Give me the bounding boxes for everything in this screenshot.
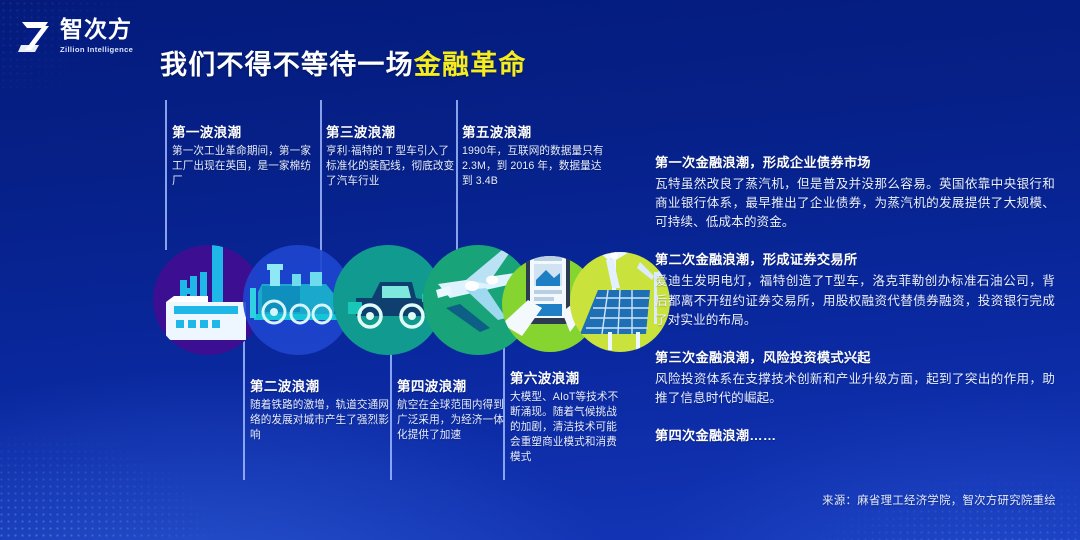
wave-5-desc: 1990年，互联网的数据量只有2.3M，到 2016 年，数据量达到 3.4B [462, 144, 604, 189]
page-title: 我们不得不等待一场金融革命 [160, 43, 527, 82]
wave-4-title: 第四波浪潮 [397, 375, 505, 395]
wave-4-desc: 航空在全球范围内得到广泛采用，为经济一体化提供了加速 [397, 398, 505, 443]
source-credit: 来源：麻省理工经济学院，智次方研究院重绘 [822, 492, 1056, 508]
wave-3-desc: 亨利·福特的 T 型车引入了标准化的装配线，彻底改变了汽车行业 [326, 144, 456, 189]
finance-block-3: 第三次金融浪潮，风险投资模式兴起 风险投资体系在支撑技术创新和产业升级方面，起到… [655, 347, 1055, 408]
wave-1-desc: 第一次工业革命期间，第一家工厂出现在英国，是一家棉纺厂 [172, 144, 320, 189]
finance-2-title: 第二次金融浪潮，形成证券交易所 [655, 249, 1055, 268]
page-title-accent: 金融革命 [414, 50, 527, 80]
wave-block-3: 第三波浪潮 亨利·福特的 T 型车引入了标准化的装配线，彻底改变了汽车行业 [326, 121, 456, 189]
wave-block-6: 第六波浪潮 大模型、AIoT等技术不断涌现。随着气候挑战的加剧，清洁技术可能会重… [510, 367, 624, 465]
wave-block-1: 第一波浪潮 第一次工业革命期间，第一家工厂出现在英国，是一家棉纺厂 [172, 121, 320, 189]
wave-block-5: 第五波浪潮 1990年，互联网的数据量只有2.3M，到 2016 年，数据量达到… [462, 121, 604, 189]
wave-6-desc: 大模型、AIoT等技术不断涌现。随着气候挑战的加剧，清洁技术可能会重塑商业模式和… [510, 390, 624, 465]
wave-block-4: 第四波浪潮 航空在全球范围内得到广泛采用，为经济一体化提供了加速 [397, 375, 505, 443]
zillion-z-mark-icon [18, 17, 52, 57]
wave-6-title: 第六波浪潮 [510, 367, 624, 387]
finance-4-title: 第四次金融浪潮…… [655, 425, 1055, 444]
finance-1-title: 第一次金融浪潮，形成企业债券市场 [655, 152, 1055, 171]
wave-1-title: 第一波浪潮 [172, 121, 320, 141]
finance-block-4: 第四次金融浪潮…… [655, 425, 1055, 444]
finance-1-desc: 瓦特虽然改良了蒸汽机，但是普及并没那么容易。英国依靠中央银行和商业银行体系，最早… [655, 175, 1055, 232]
brand-logo[interactable]: 智次方 Zillion Intelligence [18, 17, 133, 57]
wave-2-desc: 随着铁路的激增，轨道交通网络的发展对城市产生了强烈影响 [250, 398, 396, 443]
wave-block-2: 第二波浪潮 随着铁路的激增，轨道交通网络的发展对城市产生了强烈影响 [250, 375, 396, 443]
industrial-waves-illustration [150, 228, 670, 368]
brand-name-en: Zillion Intelligence [60, 46, 133, 54]
finance-block-1: 第一次金融浪潮，形成企业债券市场 瓦特虽然改良了蒸汽机，但是普及并没那么容易。英… [655, 152, 1055, 232]
brand-name-cn: 智次方 [60, 18, 133, 41]
slide-canvas: 智次方 Zillion Intelligence 我们不得不等待一场金融革命 [0, 0, 1080, 540]
finance-block-2: 第二次金融浪潮，形成证券交易所 爱迪生发明电灯，福特创造了T型车，洛克菲勒创办标… [655, 249, 1055, 329]
finance-3-title: 第三次金融浪潮，风险投资模式兴起 [655, 347, 1055, 366]
finance-2-desc: 爱迪生发明电灯，福特创造了T型车，洛克菲勒创办标准石油公司，背后都离不开纽约证券… [655, 272, 1055, 329]
wave-5-title: 第五波浪潮 [462, 121, 604, 141]
page-title-main: 我们不得不等待一场 [160, 50, 414, 80]
wave-3-title: 第三波浪潮 [326, 121, 456, 141]
wave-2-title: 第二波浪潮 [250, 375, 396, 395]
finance-waves-panel: 第一次金融浪潮，形成企业债券市场 瓦特虽然改良了蒸汽机，但是普及并没那么容易。英… [655, 152, 1055, 461]
finance-3-desc: 风险投资体系在支撑技术创新和产业升级方面，起到了突出的作用，助推了信息时代的崛起… [655, 370, 1055, 408]
